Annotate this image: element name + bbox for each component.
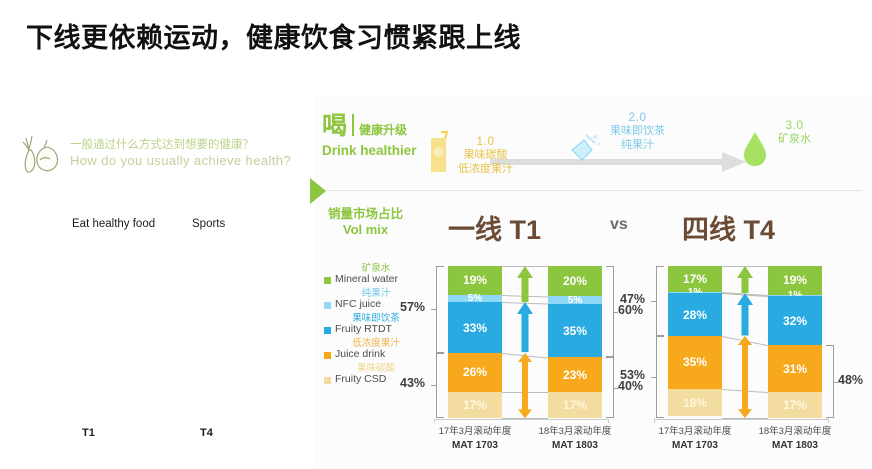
vs-label: vs: [610, 216, 628, 234]
stage-1-label: 1.0 果味碳酸 低浓度果汁: [458, 134, 513, 177]
volmix-title-en: Vol mix: [328, 222, 403, 239]
bracket-left: [656, 336, 664, 418]
bar-area: 19%5%33%26%17%20%5%35%23%17%: [420, 266, 630, 418]
x-axis-label-mat-1803: 18年3月滚动年度MAT 1803: [751, 426, 839, 452]
bracket-label: 43%: [400, 376, 425, 390]
x-axis-tick: [608, 419, 609, 423]
stage-2-label: 2.0 果味即饮茶 纯果汁: [610, 110, 665, 153]
headline-divider: [352, 114, 354, 136]
legend-item-juice-drink[interactable]: 低浓度果汁Juice drink: [324, 339, 428, 361]
bracket-left: [436, 353, 444, 418]
stage-1-number: 1.0: [458, 134, 513, 149]
bar-segment-fruity-csd[interactable]: 17%: [548, 392, 602, 418]
x-axis-label-en: MAT 1703: [651, 439, 739, 453]
bar-segment-juice-drink[interactable]: 31%: [768, 345, 822, 392]
page-title: 下线更依赖运动，健康饮食习惯紧跟上线: [26, 16, 521, 55]
bar-segment-fruity-rtdt[interactable]: 35%: [548, 304, 602, 357]
answer-label-sports: Sports: [192, 218, 225, 230]
legend-swatch-icon: [324, 352, 331, 359]
stage-2-number: 2.0: [610, 110, 665, 125]
question-block: 一般通过什么方式达到想要的健康？ How do you usually achi…: [70, 139, 300, 168]
tier-label-t1: T1: [82, 427, 95, 439]
legend-swatch-icon: [324, 327, 331, 334]
volmix-title-cn: 销量市场占比: [328, 206, 403, 222]
x-axis-label-en: MAT 1803: [531, 439, 619, 453]
stacked-bar-mat-1703[interactable]: 19%5%33%26%17%: [448, 266, 502, 418]
section-divider: [322, 190, 862, 191]
x-axis-label-mat-1803: 18年3月滚动年度MAT 1803: [531, 426, 619, 452]
bracket-label: 53%: [620, 368, 645, 382]
drink-headline-en: Drink healthier: [322, 144, 417, 158]
bracket-tick: [613, 388, 618, 389]
drink-headline-cn-big: 喝: [322, 114, 347, 139]
arrow-up-icon: [734, 266, 756, 293]
green-triangle-marker: [310, 178, 326, 204]
stacked-bar-mat-1803[interactable]: 20%5%35%23%17%: [548, 266, 602, 418]
bracket-left: [656, 266, 664, 336]
x-axis-tick: [434, 419, 435, 423]
stage-3-label: 3.0 矿泉水: [778, 118, 811, 147]
legend-swatch-icon: [324, 377, 331, 384]
bar-segment-fruity-rtdt[interactable]: 28%: [668, 293, 722, 336]
arrow-up-icon: [734, 293, 756, 336]
panel-accent-bar: [310, 96, 314, 469]
x-axis-label-en: MAT 1803: [751, 439, 839, 453]
vegetables-icon: [16, 132, 64, 182]
volmix-title: 销量市场占比 Vol mix: [328, 206, 403, 239]
chart-legend: 矿泉水Mineral water纯果汁NFC juice果味即饮茶Fruity …: [324, 264, 428, 389]
arrow-updown-icon: [734, 336, 756, 418]
legend-item-mineral-water[interactable]: 矿泉水Mineral water: [324, 264, 428, 286]
bar-segment-fruity-csd[interactable]: 18%: [668, 389, 722, 416]
bar-segment-fruity-rtdt[interactable]: 33%: [448, 302, 502, 352]
bracket-tick: [613, 312, 618, 313]
bar-segment-juice-drink[interactable]: 23%: [548, 357, 602, 392]
x-axis-tick: [828, 419, 829, 423]
bracket-label: 47%: [620, 292, 645, 306]
bracket-left: [436, 266, 444, 353]
x-axis-label-cn: 18年3月滚动年度: [751, 426, 839, 439]
bracket-label: 48%: [838, 373, 863, 387]
juice-box-icon: [426, 130, 452, 174]
bracket-tick: [651, 301, 656, 302]
drink-healthier-headline: 喝 健康升级 Drink healthier: [322, 112, 417, 158]
bar-segment-fruity-csd[interactable]: 17%: [768, 392, 822, 418]
bracket-tick: [651, 377, 656, 378]
x-axis: [434, 419, 608, 420]
bar-segment-mineral-water[interactable]: 20%: [548, 266, 602, 296]
legend-label-en-row: Mineral water: [324, 274, 428, 286]
legend-label-en: Fruity CSD: [335, 374, 386, 386]
legend-label-en-row: Fruity RTDT: [324, 324, 428, 336]
stage-3-line-1: 矿泉水: [778, 133, 811, 147]
market-heading-t4: 四线 T4: [682, 208, 775, 247]
bracket-tick: [431, 385, 436, 386]
legend-label-en: NFC juice: [335, 299, 381, 311]
legend-label-en: Mineral water: [335, 274, 398, 286]
x-axis-label-cn: 18年3月滚动年度: [531, 426, 619, 439]
chart-t1: 19%5%33%26%17%20%5%35%23%17%57%43%60%40%…: [420, 256, 630, 466]
answer-label-eat-healthy-food: Eat healthy food: [72, 218, 155, 230]
drink-headline-cn-sub: 健康升级: [359, 124, 407, 136]
stage-1-line-1: 果味碳酸: [458, 149, 513, 163]
legend-label-en-row: Juice drink: [324, 349, 428, 361]
x-axis-label-en: MAT 1703: [431, 439, 519, 453]
stacked-bar-mat-1703[interactable]: 17%1%28%35%18%: [668, 266, 722, 418]
tier-label-t4: T4: [200, 427, 213, 439]
market-heading-t1: 一线 T1: [448, 208, 541, 247]
water-droplet-icon: [740, 130, 770, 168]
question-text-cn: 一般通过什么方式达到想要的健康？: [70, 139, 300, 153]
bracket-tick: [833, 382, 838, 383]
question-text-en: How do you usually achieve health?: [70, 153, 300, 168]
bar-segment-fruity-rtdt[interactable]: 32%: [768, 296, 822, 345]
bracket-tick: [431, 309, 436, 310]
bar-segment-juice-drink[interactable]: 35%: [668, 336, 722, 389]
bar-segment-fruity-csd[interactable]: 17%: [448, 392, 502, 418]
legend-label-en: Juice drink: [335, 349, 385, 361]
bracket-label: 57%: [400, 300, 425, 314]
bar-segment-juice-drink[interactable]: 26%: [448, 353, 502, 393]
evolution-arrow-icon: [490, 150, 748, 174]
x-axis-label-mat-1703: 17年3月滚动年度MAT 1703: [651, 426, 739, 452]
bar-segment-nfc-juice[interactable]: 5%: [448, 295, 502, 303]
x-axis-label-mat-1703: 17年3月滚动年度MAT 1703: [431, 426, 519, 452]
legend-swatch-icon: [324, 302, 331, 309]
stage-1-line-2: 低浓度果汁: [458, 163, 513, 177]
x-axis-tick: [654, 419, 655, 423]
bar-segment-mineral-water[interactable]: 19%: [448, 266, 502, 295]
legend-item-fruity-rtdt[interactable]: 果味即饮茶Fruity RTDT: [324, 314, 428, 336]
stage-2-line-1: 果味即饮茶: [610, 125, 665, 139]
arrow-updown-icon: [514, 353, 536, 418]
arrow-up-icon: [514, 302, 536, 352]
x-axis-label-cn: 17年3月滚动年度: [651, 426, 739, 439]
bottle-icon: [568, 132, 602, 168]
left-panel: 一般通过什么方式达到想要的健康？ How do you usually achi…: [0, 96, 310, 469]
stacked-bar-mat-1803[interactable]: 19%1%32%31%17%: [768, 266, 822, 418]
legend-label-en: Fruity RTDT: [335, 324, 392, 336]
x-axis-label-cn: 17年3月滚动年度: [431, 426, 519, 439]
legend-swatch-icon: [324, 277, 331, 284]
right-panel: 喝 健康升级 Drink healthier 1.0: [310, 96, 872, 469]
bar-segment-nfc-juice[interactable]: 5%: [548, 296, 602, 304]
x-axis: [654, 419, 828, 420]
chart-t4: 17%1%28%35%18%19%1%32%31%17%47%53%48%17年…: [640, 256, 866, 466]
stage-3-number: 3.0: [778, 118, 811, 133]
stage-2-line-2: 纯果汁: [610, 139, 665, 153]
arrow-up-icon: [514, 266, 536, 302]
